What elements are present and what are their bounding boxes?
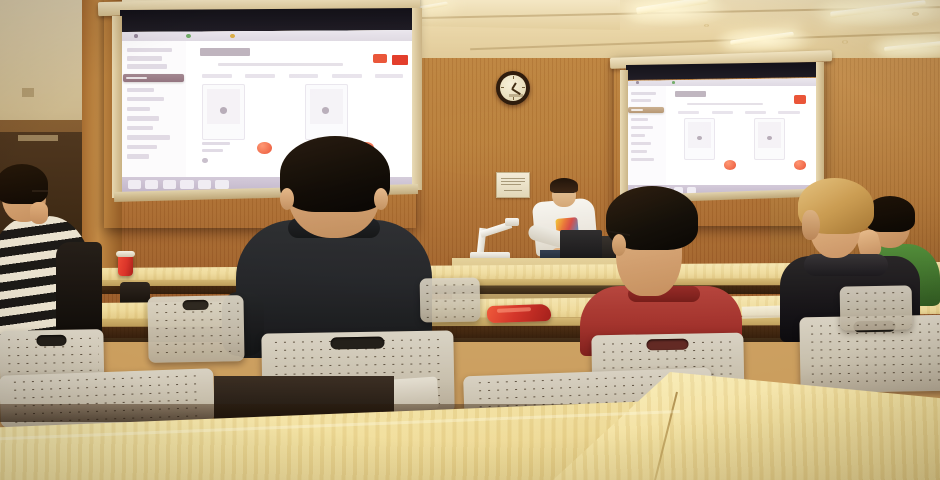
presenter-hair [550,178,578,193]
student-maroon [586,190,736,350]
page-heading [200,48,250,56]
backpack-under-desk [120,282,150,306]
chair-4-mesh [423,280,478,319]
sidebar-item-7[interactable] [127,107,150,111]
sidebar-item-4[interactable] [631,118,648,121]
sidebar-item-9[interactable] [631,158,654,161]
student-navy-ear-left [280,188,294,210]
card-caption-2 [202,149,222,152]
browser-favicon-3 [230,34,235,38]
chair-3-handle[interactable] [330,336,384,349]
chair-2[interactable] [147,295,244,363]
right-screen-left-edge [620,70,628,200]
sidebar-item-5[interactable] [631,126,653,129]
browser-favicon-1 [134,34,139,38]
sidebar-item-6[interactable] [127,97,164,101]
document-camera-head [505,218,519,226]
badge-action-1[interactable] [373,54,387,64]
sidebar-active-label [126,77,147,79]
sidebar-item-10[interactable] [127,135,169,139]
column-header-2 [712,111,733,114]
column-header-1 [678,111,699,114]
taskbar-icon-2[interactable] [145,180,158,189]
student-striped-hand [30,202,48,224]
clock-face [500,75,526,101]
student-striped-arm [56,242,102,334]
column-header-4 [778,111,799,114]
classroom-photo [0,0,940,480]
taskbar-icon-4[interactable] [180,180,193,189]
sidebar-active-label [631,109,643,111]
sprinkler-head-icon [842,40,848,44]
ceiling-light-strip-2 [830,0,926,18]
chair-1-handle[interactable] [37,334,66,346]
card-action-badge-1[interactable] [724,160,736,170]
card-action-badge-2[interactable] [794,160,806,170]
wall-clock [496,71,530,105]
ceiling-light-strip-4 [884,41,940,52]
content-card-2[interactable] [305,84,348,140]
chair-2-handle[interactable] [182,300,209,310]
sidebar-item-5[interactable] [127,88,154,92]
clock-tick-9 [501,87,504,88]
smoke-detector-icon [704,24,709,27]
sidebar-item-8[interactable] [127,116,159,120]
sidebar-item-12[interactable] [127,154,149,158]
subheading-line [218,63,343,66]
chair-4[interactable] [420,277,481,322]
card-thumbnail-1 [207,89,240,124]
content-card-1[interactable] [202,84,245,140]
card-caption-1 [202,142,229,145]
right-screen-right-edge [816,62,824,192]
right-screen-top-band [626,62,820,80]
content-card-2[interactable] [754,118,785,160]
column-header-5 [375,74,402,78]
column-header-3 [289,74,319,78]
browser-favicon-2 [186,34,191,38]
badge-action-1[interactable] [794,95,806,104]
subheading-line [687,103,763,105]
page-heading [675,91,705,97]
badge-action-2[interactable] [391,54,409,67]
taskbar-icon-3[interactable] [163,180,176,189]
ceiling-seam-2 [470,32,940,50]
chair-5-handle[interactable] [646,338,689,350]
clock-tick-3 [522,87,525,88]
sidebar-item-2[interactable] [127,56,162,60]
wall-mark [22,88,34,97]
clock-tick-6 [513,97,514,100]
sidebar-item-7[interactable] [631,142,651,145]
card-avatar-1 [220,107,227,114]
sidebar-item-8[interactable] [631,150,647,153]
sidebar-item-1[interactable] [631,92,656,95]
taskbar-icon-1[interactable] [128,180,141,189]
column-header-1 [202,74,232,78]
red-coffee-cup [118,254,133,276]
clock-tick-12 [513,76,514,79]
student-striped-glasses [32,190,48,195]
card-thumbnail-2 [310,89,343,124]
door-sign [18,135,58,141]
column-header-2 [245,74,275,78]
content-card-1[interactable] [684,118,715,160]
sidebar-item-1[interactable] [127,48,172,52]
presenter-glasses [554,192,574,197]
left-screen-top-band [120,8,416,32]
column-header-3 [745,111,766,114]
card-thumbnail-1 [688,122,711,147]
sidebar-item-3[interactable] [127,64,167,68]
student-striped [0,168,114,328]
card-status-dot [202,158,207,163]
app-sidebar[interactable] [122,41,187,177]
clock-brand-text [509,94,523,97]
chair-7-mesh [843,288,908,327]
student-navy-ear-right [374,188,388,210]
app-sidebar[interactable] [628,86,667,185]
taskbar-icon-5[interactable] [198,180,211,189]
student-blond-ear-side [802,210,820,240]
app-main-panel [666,86,818,185]
student-striped-hair [0,164,48,204]
taskbar-icon-6[interactable] [215,180,228,189]
student-navy [236,142,432,354]
sidebar-item-9[interactable] [127,126,153,130]
ceiling-vent-icon [912,12,919,16]
chair-7[interactable] [840,285,913,330]
sidebar-item-active[interactable] [628,107,664,113]
sidebar-item-6[interactable] [631,134,645,137]
sidebar-item-11[interactable] [127,145,157,149]
column-header-4 [332,74,362,78]
card-thumbnail-2 [758,122,781,147]
coffee-cup-lid [116,251,135,257]
browser-chrome [122,30,414,41]
sidebar-item-2[interactable] [631,99,651,102]
student-blond-hood [804,254,888,276]
sidebar-item-active[interactable] [123,74,184,82]
wall-notice-sign [496,172,530,198]
